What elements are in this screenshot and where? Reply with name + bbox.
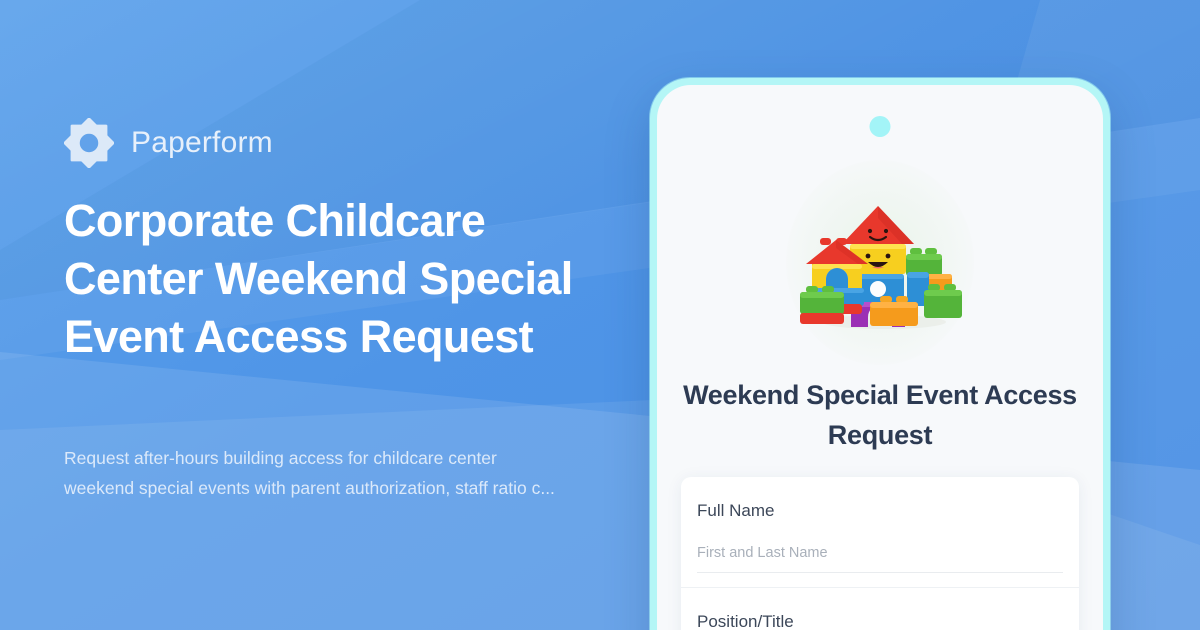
camera-dot-icon bbox=[870, 116, 891, 137]
phone-screen: Weekend Special Event Access Request Ful… bbox=[657, 85, 1103, 630]
field-label: Full Name bbox=[697, 499, 1063, 523]
form-card: Full Name First and Last Name Position/T… bbox=[681, 477, 1079, 630]
toy-building-blocks-icon bbox=[792, 182, 968, 342]
phone-mockup: Weekend Special Event Access Request Ful… bbox=[650, 78, 1110, 630]
field-label: Position/Title bbox=[697, 610, 1063, 630]
brand-name: Paperform bbox=[131, 126, 273, 160]
form-heading: Weekend Special Event Access Request bbox=[683, 375, 1077, 455]
brand-lockup: Paperform bbox=[64, 118, 273, 168]
left-content-column: Paperform Corporate Childcare Center Wee… bbox=[64, 0, 624, 630]
field-position-title: Position/Title bbox=[681, 587, 1079, 630]
full-name-input[interactable]: First and Last Name bbox=[697, 545, 1063, 573]
field-full-name: Full Name First and Last Name bbox=[681, 477, 1079, 573]
form-hero-image bbox=[657, 147, 1103, 377]
page-description: Request after-hours building access for … bbox=[64, 443, 564, 503]
paperform-starburst-icon bbox=[64, 118, 114, 168]
page-title: Corporate Childcare Center Weekend Speci… bbox=[64, 192, 594, 366]
social-share-card: Paperform Corporate Childcare Center Wee… bbox=[0, 0, 1200, 630]
